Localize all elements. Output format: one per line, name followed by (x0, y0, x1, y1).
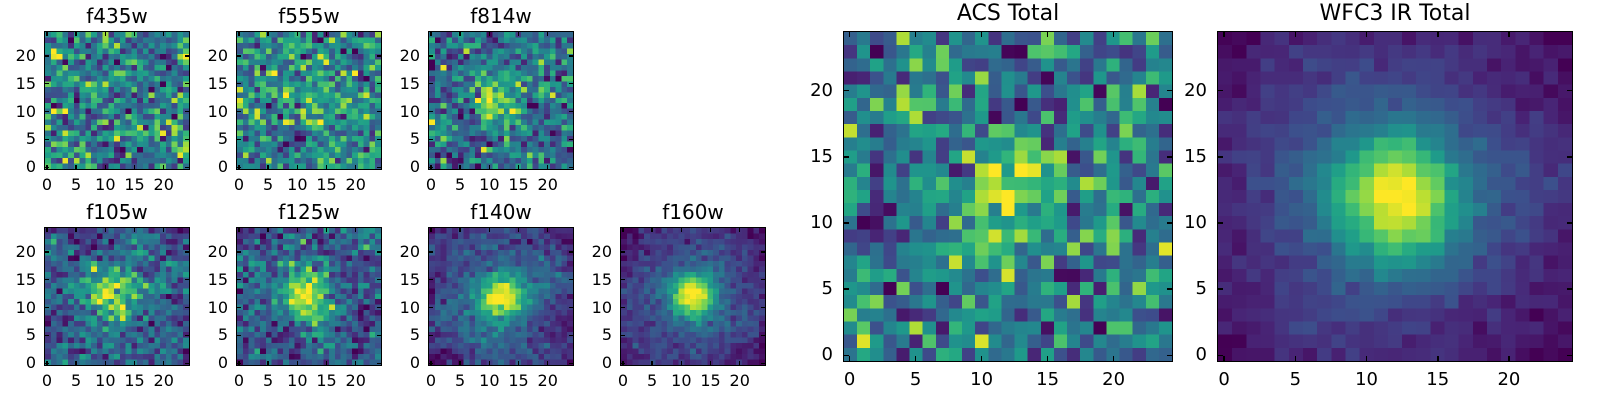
x-tick-label-wfc3-ir-total-15: 15 (1426, 371, 1449, 389)
y-tick-label-wfc3-ir-total-20: 20 (1184, 82, 1207, 100)
y-tick-f435w-20 (44, 55, 49, 56)
y-tick-right-acs-total-5 (1167, 288, 1173, 290)
y-tick-label-f555w-5: 5 (218, 131, 228, 147)
x-tick-top-f435w-15 (134, 31, 135, 36)
y-tick-label-f125w-0: 0 (218, 355, 228, 371)
y-tick-label-f435w-0: 0 (26, 159, 36, 175)
x-tick-label-f435w-10: 10 (95, 177, 115, 193)
x-tick-top-acs-total-0 (849, 31, 851, 37)
x-tick-label-f125w-10: 10 (287, 373, 307, 389)
heatmap-image-acs-total (843, 31, 1173, 362)
y-tick-label-f814w-0: 0 (410, 159, 420, 175)
y-tick-label-f105w-5: 5 (26, 327, 36, 343)
y-tick-f125w-20 (236, 251, 241, 252)
y-tick-f105w-15 (44, 279, 49, 280)
y-tick-label-f125w-5: 5 (218, 327, 228, 343)
x-tick-acs-total-15 (1047, 356, 1049, 362)
y-tick-label-f555w-15: 15 (208, 76, 228, 92)
y-tick-label-f555w-20: 20 (208, 48, 228, 64)
x-tick-top-f105w-0 (46, 227, 47, 232)
y-tick-label-f125w-15: 15 (208, 272, 228, 288)
y-tick-right-f435w-15 (185, 83, 190, 84)
x-tick-top-f814w-0 (430, 31, 431, 36)
y-tick-f125w-0 (236, 363, 241, 364)
panel-title-f105w: f105w (44, 202, 190, 222)
x-tick-top-f814w-15 (518, 31, 519, 36)
y-tick-right-f814w-0 (569, 167, 574, 168)
x-tick-label-f435w-0: 0 (42, 177, 52, 193)
panel-title-f555w: f555w (236, 6, 382, 26)
y-tick-label-f140w-5: 5 (410, 327, 420, 343)
panel-f105w: f105w0510152005101520 (44, 227, 190, 366)
y-tick-label-f105w-15: 15 (16, 272, 36, 288)
panel-title-f125w: f125w (236, 202, 382, 222)
x-tick-top-f435w-0 (46, 31, 47, 36)
y-tick-right-f555w-15 (377, 83, 382, 84)
y-tick-right-f814w-15 (569, 83, 574, 84)
y-tick-right-acs-total-0 (1167, 355, 1173, 357)
x-tick-label-f140w-0: 0 (426, 373, 436, 389)
x-tick-f814w-15 (518, 165, 519, 170)
y-tick-right-f555w-10 (377, 111, 382, 112)
y-tick-label-f435w-10: 10 (16, 104, 36, 120)
y-tick-right-wfc3-ir-total-15 (1567, 156, 1573, 158)
y-tick-label-f555w-0: 0 (218, 159, 228, 175)
y-tick-right-f435w-5 (185, 139, 190, 140)
x-tick-top-f435w-10 (105, 31, 106, 36)
x-tick-label-f160w-5: 5 (647, 373, 657, 389)
x-tick-top-wfc3-ir-total-15 (1437, 31, 1439, 37)
panel-title-f814w: f814w (428, 6, 574, 26)
y-tick-f105w-0 (44, 363, 49, 364)
y-tick-f814w-0 (428, 167, 433, 168)
x-tick-label-f125w-0: 0 (234, 373, 244, 389)
y-tick-right-f140w-0 (569, 363, 574, 364)
x-tick-f555w-15 (326, 165, 327, 170)
y-tick-label-f140w-20: 20 (400, 244, 420, 260)
y-tick-right-f125w-20 (377, 251, 382, 252)
y-tick-right-f125w-10 (377, 307, 382, 308)
x-tick-label-wfc3-ir-total-5: 5 (1290, 371, 1301, 389)
x-tick-label-f105w-0: 0 (42, 373, 52, 389)
y-tick-acs-total-0 (843, 355, 849, 357)
heatmap-image-f555w (236, 31, 382, 170)
y-tick-wfc3-ir-total-5 (1217, 288, 1223, 290)
x-tick-label-f125w-15: 15 (316, 373, 336, 389)
x-tick-label-f814w-10: 10 (479, 177, 499, 193)
x-tick-label-f435w-20: 20 (154, 177, 174, 193)
y-tick-label-f160w-15: 15 (592, 272, 612, 288)
y-tick-label-f814w-20: 20 (400, 48, 420, 64)
y-tick-label-acs-total-0: 0 (822, 346, 833, 364)
y-tick-label-f160w-5: 5 (602, 327, 612, 343)
x-tick-label-acs-total-5: 5 (910, 371, 921, 389)
panel-f125w: f125w0510152005101520 (236, 227, 382, 366)
y-tick-f814w-15 (428, 83, 433, 84)
y-tick-f555w-15 (236, 83, 241, 84)
x-tick-f140w-10 (489, 361, 490, 366)
y-tick-wfc3-ir-total-10 (1217, 222, 1223, 224)
y-tick-right-wfc3-ir-total-10 (1567, 222, 1573, 224)
x-tick-f160w-20 (739, 361, 740, 366)
y-tick-label-f435w-5: 5 (26, 131, 36, 147)
x-tick-f555w-5 (267, 165, 268, 170)
x-tick-top-f105w-20 (163, 227, 164, 232)
y-tick-right-f555w-0 (377, 167, 382, 168)
heatmap-canvas-acs-total (844, 32, 1172, 361)
y-tick-right-f435w-0 (185, 167, 190, 168)
x-tick-label-f160w-0: 0 (618, 373, 628, 389)
x-tick-wfc3-ir-total-0 (1223, 356, 1225, 362)
panel-title-f160w: f160w (620, 202, 766, 222)
x-tick-top-f160w-10 (681, 227, 682, 232)
y-tick-f814w-10 (428, 111, 433, 112)
x-tick-f125w-10 (297, 361, 298, 366)
x-tick-label-wfc3-ir-total-0: 0 (1218, 371, 1229, 389)
y-tick-label-f105w-10: 10 (16, 300, 36, 316)
x-tick-f435w-15 (134, 165, 135, 170)
x-tick-label-f160w-15: 15 (700, 373, 720, 389)
x-tick-top-wfc3-ir-total-20 (1508, 31, 1510, 37)
x-tick-top-f125w-20 (355, 227, 356, 232)
x-tick-top-acs-total-5 (915, 31, 917, 37)
y-tick-f160w-15 (620, 279, 625, 280)
x-tick-f435w-10 (105, 165, 106, 170)
x-tick-label-f435w-15: 15 (124, 177, 144, 193)
y-tick-right-acs-total-20 (1167, 90, 1173, 92)
panel-f555w: f555w0510152005101520 (236, 31, 382, 170)
y-tick-label-f105w-20: 20 (16, 244, 36, 260)
y-tick-label-f140w-15: 15 (400, 272, 420, 288)
y-tick-f160w-0 (620, 363, 625, 364)
y-tick-right-f140w-15 (569, 279, 574, 280)
y-tick-right-f814w-5 (569, 139, 574, 140)
x-tick-top-f125w-10 (297, 227, 298, 232)
heatmap-canvas-f125w (237, 228, 381, 365)
x-tick-f140w-15 (518, 361, 519, 366)
y-tick-label-f555w-10: 10 (208, 104, 228, 120)
x-tick-label-f555w-20: 20 (346, 177, 366, 193)
x-tick-top-f435w-20 (163, 31, 164, 36)
x-tick-f160w-10 (681, 361, 682, 366)
y-tick-right-wfc3-ir-total-0 (1567, 355, 1573, 357)
x-tick-acs-total-10 (981, 356, 983, 362)
y-tick-right-f555w-20 (377, 55, 382, 56)
y-tick-label-acs-total-5: 5 (822, 280, 833, 298)
x-tick-top-f555w-20 (355, 31, 356, 36)
x-tick-top-f160w-20 (739, 227, 740, 232)
x-tick-top-f555w-15 (326, 31, 327, 36)
y-tick-f125w-15 (236, 279, 241, 280)
heatmap-canvas-wfc3-ir-total (1218, 32, 1572, 361)
y-tick-label-wfc3-ir-total-0: 0 (1196, 346, 1207, 364)
y-tick-label-f814w-10: 10 (400, 104, 420, 120)
x-tick-top-acs-total-10 (981, 31, 983, 37)
y-tick-acs-total-20 (843, 90, 849, 92)
heatmap-canvas-f160w (621, 228, 765, 365)
x-tick-f814w-5 (459, 165, 460, 170)
y-tick-right-f160w-5 (761, 335, 766, 336)
y-tick-right-f814w-10 (569, 111, 574, 112)
panel-f814w: f814w0510152005101520 (428, 31, 574, 170)
x-tick-top-wfc3-ir-total-5 (1295, 31, 1297, 37)
y-tick-label-f125w-20: 20 (208, 244, 228, 260)
x-tick-top-acs-total-15 (1047, 31, 1049, 37)
y-tick-label-f814w-5: 5 (410, 131, 420, 147)
x-tick-label-wfc3-ir-total-10: 10 (1355, 371, 1378, 389)
x-tick-label-f555w-15: 15 (316, 177, 336, 193)
heatmap-image-f814w (428, 31, 574, 170)
x-tick-label-f140w-20: 20 (538, 373, 558, 389)
y-tick-right-f140w-10 (569, 307, 574, 308)
y-tick-label-acs-total-20: 20 (810, 82, 833, 100)
y-tick-right-acs-total-15 (1167, 156, 1173, 158)
heatmap-canvas-f814w (429, 32, 573, 169)
x-tick-top-f140w-10 (489, 227, 490, 232)
x-tick-f105w-15 (134, 361, 135, 366)
x-tick-top-f125w-15 (326, 227, 327, 232)
y-tick-f555w-20 (236, 55, 241, 56)
x-tick-top-f140w-15 (518, 227, 519, 232)
y-tick-right-f140w-5 (569, 335, 574, 336)
y-tick-right-wfc3-ir-total-5 (1567, 288, 1573, 290)
x-tick-top-f160w-5 (651, 227, 652, 232)
heatmap-image-f125w (236, 227, 382, 366)
y-tick-right-f105w-5 (185, 335, 190, 336)
x-tick-f125w-15 (326, 361, 327, 366)
y-tick-right-f435w-20 (185, 55, 190, 56)
x-tick-label-f140w-10: 10 (479, 373, 499, 389)
x-tick-label-f105w-20: 20 (154, 373, 174, 389)
y-tick-f435w-5 (44, 139, 49, 140)
y-tick-f105w-10 (44, 307, 49, 308)
x-tick-top-f814w-5 (459, 31, 460, 36)
y-tick-right-f555w-5 (377, 139, 382, 140)
panel-acs-total: ACS Total0510152005101520 (843, 31, 1173, 362)
y-tick-right-f160w-10 (761, 307, 766, 308)
x-tick-acs-total-0 (849, 356, 851, 362)
x-tick-wfc3-ir-total-15 (1437, 356, 1439, 362)
y-tick-f435w-15 (44, 83, 49, 84)
y-tick-f105w-5 (44, 335, 49, 336)
x-tick-f140w-5 (459, 361, 460, 366)
x-tick-top-f555w-0 (238, 31, 239, 36)
heatmap-canvas-f105w (45, 228, 189, 365)
y-tick-right-f105w-15 (185, 279, 190, 280)
y-tick-right-f125w-5 (377, 335, 382, 336)
y-tick-right-f105w-20 (185, 251, 190, 252)
x-tick-label-f555w-10: 10 (287, 177, 307, 193)
figure-canvas: f435w0510152005101520f555w05101520051015… (0, 0, 1600, 400)
y-tick-acs-total-10 (843, 222, 849, 224)
y-tick-right-f814w-20 (569, 55, 574, 56)
panel-title-wfc3-ir-total: WFC3 IR Total (1217, 3, 1573, 25)
x-tick-f125w-5 (267, 361, 268, 366)
y-tick-f140w-10 (428, 307, 433, 308)
x-tick-f105w-20 (163, 361, 164, 366)
y-tick-wfc3-ir-total-20 (1217, 90, 1223, 92)
x-tick-f435w-20 (163, 165, 164, 170)
x-tick-top-f555w-5 (267, 31, 268, 36)
x-tick-f555w-20 (355, 165, 356, 170)
y-tick-f140w-15 (428, 279, 433, 280)
y-tick-f140w-0 (428, 363, 433, 364)
x-tick-acs-total-20 (1113, 356, 1115, 362)
y-tick-label-acs-total-15: 15 (810, 148, 833, 166)
x-tick-f105w-5 (75, 361, 76, 366)
y-tick-f814w-5 (428, 139, 433, 140)
y-tick-right-f140w-20 (569, 251, 574, 252)
x-tick-label-f140w-5: 5 (455, 373, 465, 389)
panel-wfc3-ir-total: WFC3 IR Total0510152005101520 (1217, 31, 1573, 362)
x-tick-f105w-10 (105, 361, 106, 366)
x-tick-top-f160w-15 (710, 227, 711, 232)
y-tick-f160w-20 (620, 251, 625, 252)
x-tick-label-f140w-15: 15 (508, 373, 528, 389)
x-tick-top-wfc3-ir-total-0 (1223, 31, 1225, 37)
y-tick-label-f435w-15: 15 (16, 76, 36, 92)
x-tick-f814w-10 (489, 165, 490, 170)
y-tick-f555w-0 (236, 167, 241, 168)
x-tick-top-acs-total-20 (1113, 31, 1115, 37)
y-tick-right-f125w-0 (377, 363, 382, 364)
heatmap-image-f140w (428, 227, 574, 366)
y-tick-right-acs-total-10 (1167, 222, 1173, 224)
x-tick-label-f160w-10: 10 (671, 373, 691, 389)
y-tick-right-f435w-10 (185, 111, 190, 112)
x-tick-f160w-15 (710, 361, 711, 366)
y-tick-acs-total-15 (843, 156, 849, 158)
y-tick-label-acs-total-10: 10 (810, 214, 833, 232)
x-tick-f140w-20 (547, 361, 548, 366)
y-tick-acs-total-5 (843, 288, 849, 290)
x-tick-label-f814w-15: 15 (508, 177, 528, 193)
y-tick-f125w-5 (236, 335, 241, 336)
x-tick-label-f105w-5: 5 (71, 373, 81, 389)
x-tick-f160w-5 (651, 361, 652, 366)
x-tick-label-f105w-10: 10 (95, 373, 115, 389)
y-tick-right-f125w-15 (377, 279, 382, 280)
y-tick-label-f160w-20: 20 (592, 244, 612, 260)
y-tick-label-f814w-15: 15 (400, 76, 420, 92)
panel-f140w: f140w0510152005101520 (428, 227, 574, 366)
x-tick-top-f814w-20 (547, 31, 548, 36)
x-tick-top-f105w-10 (105, 227, 106, 232)
x-tick-acs-total-5 (915, 356, 917, 362)
y-tick-label-wfc3-ir-total-15: 15 (1184, 148, 1207, 166)
panel-f160w: f160w0510152005101520 (620, 227, 766, 366)
y-tick-right-f105w-10 (185, 307, 190, 308)
y-tick-wfc3-ir-total-15 (1217, 156, 1223, 158)
heatmap-canvas-f555w (237, 32, 381, 169)
x-tick-label-f814w-0: 0 (426, 177, 436, 193)
y-tick-right-f160w-0 (761, 363, 766, 364)
x-tick-label-f125w-20: 20 (346, 373, 366, 389)
y-tick-f555w-5 (236, 139, 241, 140)
x-tick-label-acs-total-0: 0 (844, 371, 855, 389)
x-tick-top-wfc3-ir-total-10 (1366, 31, 1368, 37)
x-tick-wfc3-ir-total-20 (1508, 356, 1510, 362)
x-tick-top-f125w-0 (238, 227, 239, 232)
x-tick-top-f160w-0 (622, 227, 623, 232)
y-tick-label-f140w-0: 0 (410, 355, 420, 371)
x-tick-top-f125w-5 (267, 227, 268, 232)
x-tick-f555w-10 (297, 165, 298, 170)
x-tick-top-f105w-5 (75, 227, 76, 232)
y-tick-f140w-5 (428, 335, 433, 336)
y-tick-right-f160w-15 (761, 279, 766, 280)
x-tick-f435w-5 (75, 165, 76, 170)
y-tick-f160w-10 (620, 307, 625, 308)
x-tick-top-f435w-5 (75, 31, 76, 36)
x-tick-label-f125w-5: 5 (263, 373, 273, 389)
x-tick-wfc3-ir-total-5 (1295, 356, 1297, 362)
y-tick-right-f160w-20 (761, 251, 766, 252)
x-tick-top-f140w-20 (547, 227, 548, 232)
x-tick-f125w-20 (355, 361, 356, 366)
heatmap-image-f105w (44, 227, 190, 366)
y-tick-f435w-0 (44, 167, 49, 168)
x-tick-top-f140w-0 (430, 227, 431, 232)
panel-title-acs-total: ACS Total (843, 3, 1173, 25)
y-tick-label-f160w-10: 10 (592, 300, 612, 316)
y-tick-right-f105w-0 (185, 363, 190, 364)
y-tick-f555w-10 (236, 111, 241, 112)
y-tick-label-wfc3-ir-total-5: 5 (1196, 280, 1207, 298)
x-tick-label-acs-total-15: 15 (1036, 371, 1059, 389)
x-tick-top-f105w-15 (134, 227, 135, 232)
x-tick-label-wfc3-ir-total-20: 20 (1497, 371, 1520, 389)
y-tick-wfc3-ir-total-0 (1217, 355, 1223, 357)
y-tick-label-f125w-10: 10 (208, 300, 228, 316)
x-tick-label-f555w-5: 5 (263, 177, 273, 193)
y-tick-label-f160w-0: 0 (602, 355, 612, 371)
panel-title-f435w: f435w (44, 6, 190, 26)
heatmap-canvas-f140w (429, 228, 573, 365)
y-tick-f125w-10 (236, 307, 241, 308)
x-tick-top-f814w-10 (489, 31, 490, 36)
y-tick-label-f105w-0: 0 (26, 355, 36, 371)
x-tick-label-f814w-5: 5 (455, 177, 465, 193)
x-tick-wfc3-ir-total-10 (1366, 356, 1368, 362)
y-tick-f140w-20 (428, 251, 433, 252)
x-tick-top-f140w-5 (459, 227, 460, 232)
y-tick-right-wfc3-ir-total-20 (1567, 90, 1573, 92)
x-tick-top-f555w-10 (297, 31, 298, 36)
heatmap-image-f160w (620, 227, 766, 366)
x-tick-f814w-20 (547, 165, 548, 170)
panel-f435w: f435w0510152005101520 (44, 31, 190, 170)
y-tick-label-wfc3-ir-total-10: 10 (1184, 214, 1207, 232)
y-tick-f435w-10 (44, 111, 49, 112)
panel-title-f140w: f140w (428, 202, 574, 222)
x-tick-label-f814w-20: 20 (538, 177, 558, 193)
x-tick-label-f555w-0: 0 (234, 177, 244, 193)
x-tick-label-f435w-5: 5 (71, 177, 81, 193)
y-tick-label-f140w-10: 10 (400, 300, 420, 316)
y-tick-f814w-20 (428, 55, 433, 56)
heatmap-image-f435w (44, 31, 190, 170)
x-tick-label-f105w-15: 15 (124, 373, 144, 389)
heatmap-canvas-f435w (45, 32, 189, 169)
x-tick-label-f160w-20: 20 (730, 373, 750, 389)
y-tick-f160w-5 (620, 335, 625, 336)
x-tick-label-acs-total-10: 10 (970, 371, 993, 389)
x-tick-label-acs-total-20: 20 (1102, 371, 1125, 389)
y-tick-f105w-20 (44, 251, 49, 252)
y-tick-label-f435w-20: 20 (16, 48, 36, 64)
heatmap-image-wfc3-ir-total (1217, 31, 1573, 362)
